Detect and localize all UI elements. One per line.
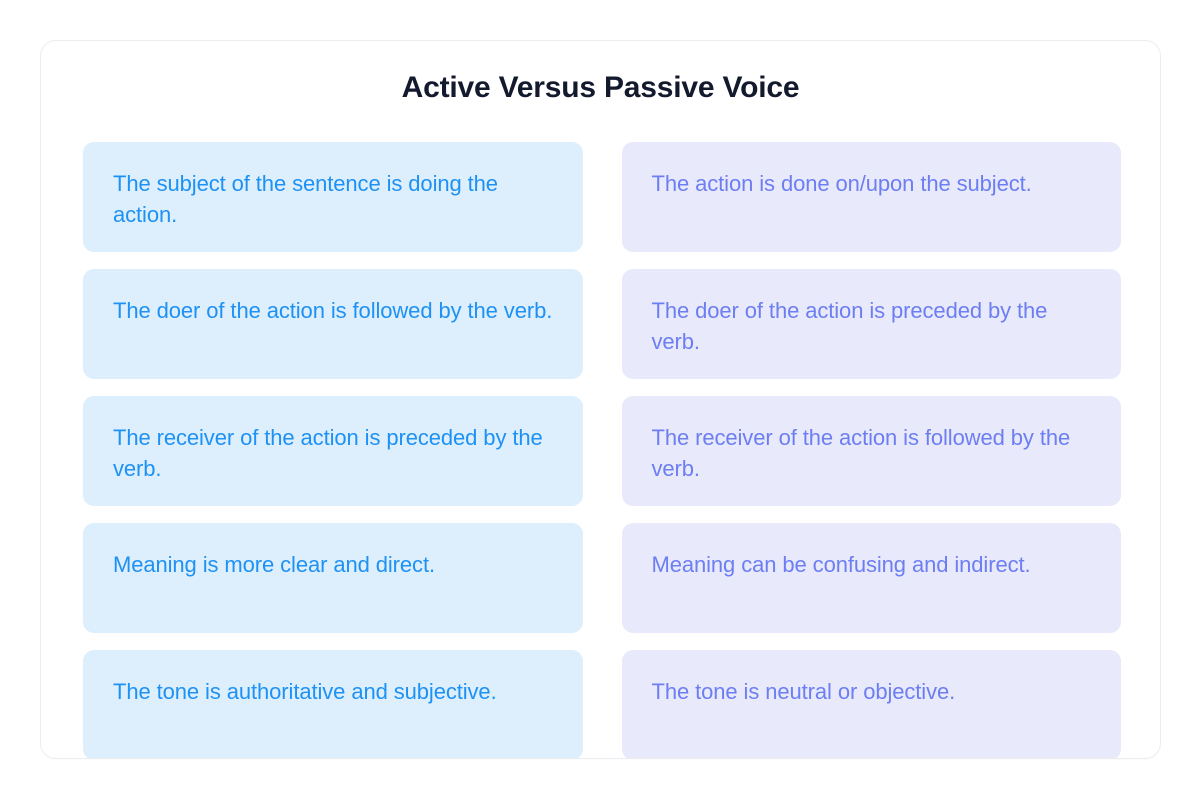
- trait-text: The tone is authoritative and subjective…: [113, 676, 553, 707]
- trait-text: The doer of the action is followed by th…: [113, 295, 553, 326]
- trait-text: The subject of the sentence is doing the…: [113, 168, 553, 230]
- active-voice-cell-3: The receiver of the action is preceded b…: [83, 396, 583, 506]
- comparison-card: Active Versus Passive Voice The subject …: [40, 40, 1161, 759]
- passive-voice-cell-3: The receiver of the action is followed b…: [622, 396, 1122, 506]
- active-voice-cell-2: The doer of the action is followed by th…: [83, 269, 583, 379]
- comparison-grid: The subject of the sentence is doing the…: [83, 142, 1121, 759]
- trait-text: The receiver of the action is preceded b…: [113, 422, 553, 484]
- passive-voice-cell-4: Meaning can be confusing and indirect.: [622, 523, 1122, 633]
- trait-text: The receiver of the action is followed b…: [652, 422, 1092, 484]
- trait-text: The tone is neutral or objective.: [652, 676, 1092, 707]
- trait-text: Meaning can be confusing and indirect.: [652, 549, 1092, 580]
- active-voice-cell-1: The subject of the sentence is doing the…: [83, 142, 583, 252]
- active-voice-cell-4: Meaning is more clear and direct.: [83, 523, 583, 633]
- active-voice-cell-5: The tone is authoritative and subjective…: [83, 650, 583, 759]
- page-title: Active Versus Passive Voice: [41, 67, 1160, 109]
- passive-voice-cell-1: The action is done on/upon the subject.: [622, 142, 1122, 252]
- trait-text: The action is done on/upon the subject.: [652, 168, 1092, 199]
- passive-voice-cell-2: The doer of the action is preceded by th…: [622, 269, 1122, 379]
- trait-text: Meaning is more clear and direct.: [113, 549, 553, 580]
- passive-voice-cell-5: The tone is neutral or objective.: [622, 650, 1122, 759]
- trait-text: The doer of the action is preceded by th…: [652, 295, 1092, 357]
- page-root: Active Versus Passive Voice The subject …: [0, 0, 1200, 802]
